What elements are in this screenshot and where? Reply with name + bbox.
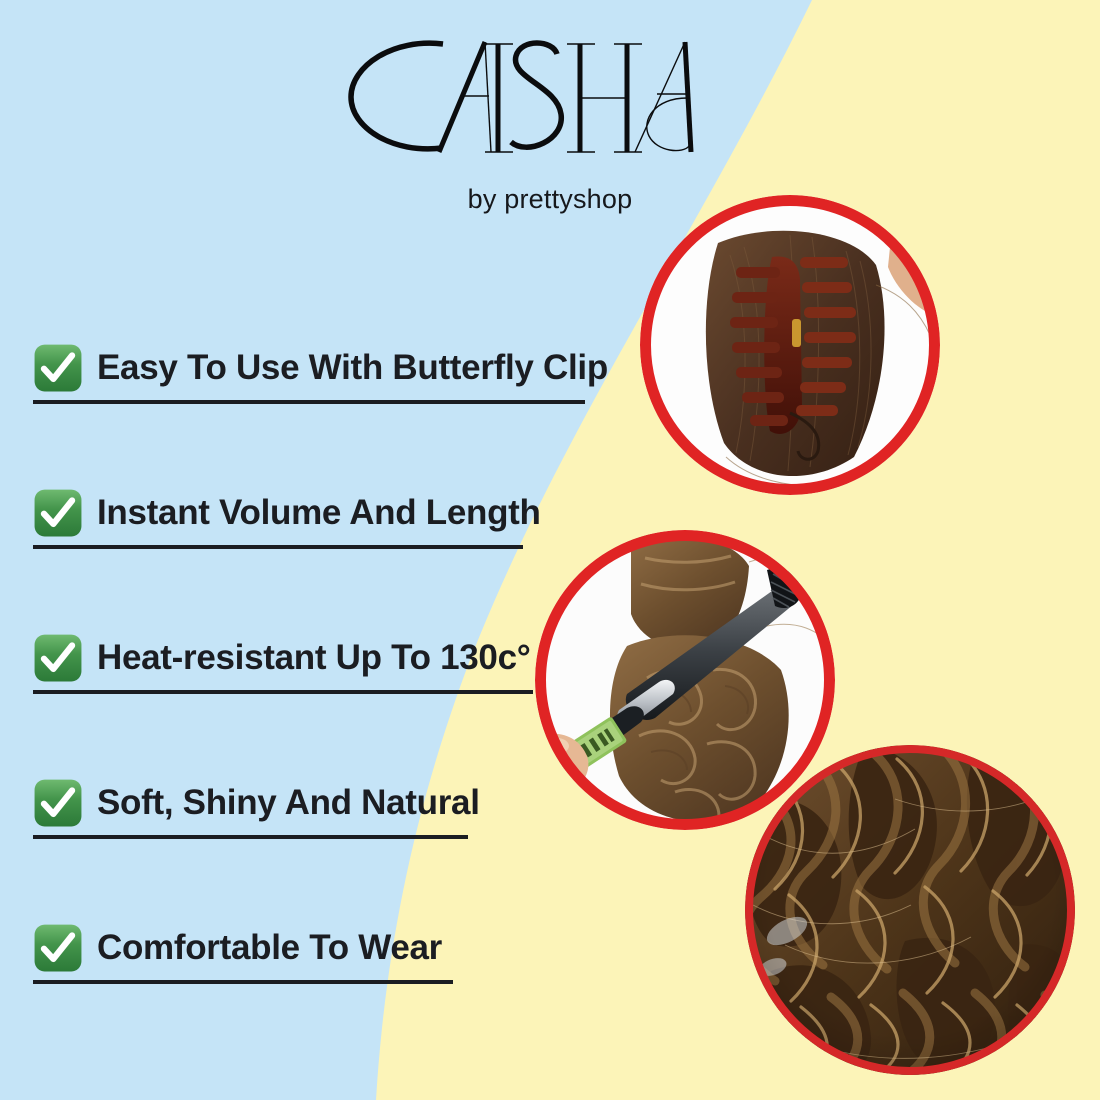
feature-underline — [33, 690, 533, 694]
feature-underline — [33, 980, 453, 984]
feature-row-volume-length: Instant Volume And Length — [33, 463, 653, 563]
feature-label: Instant Volume And Length — [97, 495, 541, 532]
photo-clip-closeup — [640, 195, 940, 495]
feature-underline — [33, 400, 585, 404]
photo-clip-image — [640, 195, 940, 495]
green-check-icon — [33, 488, 83, 538]
feature-underline — [33, 835, 468, 839]
feature-label: Heat-resistant Up To 130c° — [97, 640, 530, 677]
feature-row-heat-resistant: Heat-resistant Up To 130c° — [33, 608, 653, 708]
green-check-icon — [33, 343, 83, 393]
feature-label: Comfortable To Wear — [97, 930, 442, 967]
green-check-icon — [33, 778, 83, 828]
feature-row-soft-shiny: Soft, Shiny And Natural — [33, 753, 653, 853]
feature-label: Easy To Use With Butterfly Clip — [97, 350, 608, 387]
green-check-icon — [33, 633, 83, 683]
infographic-poster: by prettyshop Easy To Use With Butterfly… — [0, 0, 1100, 1100]
green-check-icon — [33, 923, 83, 973]
feature-row-butterfly-clip: Easy To Use With Butterfly Clip — [33, 318, 653, 418]
feature-row-comfortable: Comfortable To Wear — [33, 898, 653, 998]
feature-label: Soft, Shiny And Natural — [97, 785, 480, 822]
feature-underline — [33, 545, 523, 549]
feature-list: Easy To Use With Butterfly Clip Instant … — [33, 318, 653, 998]
photo-curls-image — [745, 745, 1075, 1075]
photo-curls-texture — [745, 745, 1075, 1075]
